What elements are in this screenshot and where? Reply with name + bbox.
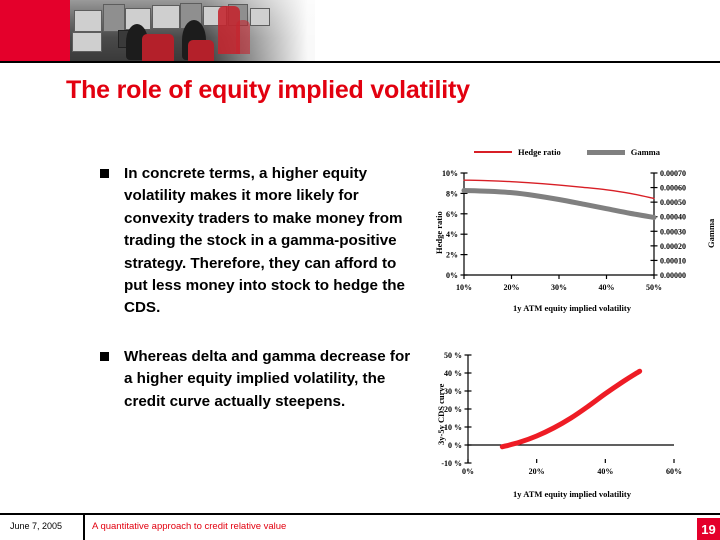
svg-text:50 %: 50 %	[444, 351, 462, 360]
svg-text:0.00050: 0.00050	[660, 198, 686, 207]
svg-text:10%: 10%	[442, 169, 458, 178]
brand-color-block	[0, 0, 70, 61]
svg-text:10%: 10%	[456, 283, 472, 292]
footer-page-rule	[660, 513, 720, 515]
chart1-y2-axis-label: Gamma	[706, 219, 716, 248]
svg-text:50%: 50%	[646, 283, 662, 292]
svg-text:0.00020: 0.00020	[660, 242, 686, 251]
svg-text:0%: 0%	[446, 271, 458, 280]
trading-floor-photo	[70, 0, 315, 61]
svg-text:10 %: 10 %	[444, 423, 462, 432]
svg-text:4%: 4%	[446, 230, 458, 239]
svg-text:40%: 40%	[597, 467, 613, 476]
svg-text:20%: 20%	[529, 467, 545, 476]
svg-text:40 %: 40 %	[444, 369, 462, 378]
svg-text:2%: 2%	[446, 251, 458, 260]
page-title: The role of equity implied volatility	[66, 76, 666, 105]
svg-text:20%: 20%	[504, 283, 520, 292]
svg-text:0 %: 0 %	[448, 441, 462, 450]
svg-text:40%: 40%	[599, 283, 615, 292]
svg-text:8%: 8%	[446, 189, 458, 198]
header-banner	[0, 0, 720, 62]
svg-text:60%: 60%	[666, 467, 682, 476]
svg-text:-10 %: -10 %	[441, 459, 462, 468]
svg-text:0.00000: 0.00000	[660, 271, 686, 280]
page-number: 19	[697, 518, 720, 540]
square-bullet-icon	[100, 169, 109, 178]
svg-text:0.00040: 0.00040	[660, 213, 686, 222]
list-item: Whereas delta and gamma decrease for a h…	[100, 346, 420, 413]
svg-text:20 %: 20 %	[444, 405, 462, 414]
chart2-x-axis-label: 1y ATM equity implied volatility	[424, 489, 720, 499]
footer-title: A quantitative approach to credit relati…	[92, 521, 286, 532]
bullet-text: Whereas delta and gamma decrease for a h…	[124, 346, 420, 413]
cds-curve-chart: -10 %0 %10 %20 %30 %40 %50 %0%20%40%60% …	[424, 345, 720, 505]
svg-text:0.00070: 0.00070	[660, 169, 686, 178]
svg-text:30 %: 30 %	[444, 387, 462, 396]
bullet-text: In concrete terms, a higher equity volat…	[124, 163, 420, 320]
footer-divider	[0, 513, 720, 515]
square-bullet-icon	[100, 352, 109, 361]
svg-text:0.00030: 0.00030	[660, 227, 686, 236]
svg-text:0.00010: 0.00010	[660, 256, 686, 265]
svg-text:6%: 6%	[446, 210, 458, 219]
chart1-y-axis-label: Hedge ratio	[434, 211, 444, 254]
footer-separator	[83, 514, 85, 540]
svg-text:0.00060: 0.00060	[660, 184, 686, 193]
list-item: In concrete terms, a higher equity volat…	[100, 163, 420, 320]
hedge-gamma-chart: Hedge ratio Gamma 0%2%4%6%8%10%0.000000.…	[424, 145, 720, 320]
footer-date: June 7, 2005	[10, 521, 62, 531]
bullet-list: In concrete terms, a higher equity volat…	[100, 163, 420, 439]
svg-text:0%: 0%	[462, 467, 474, 476]
header-divider	[0, 61, 720, 63]
chart1-x-axis-label: 1y ATM equity implied volatility	[424, 303, 720, 313]
chart2-y-axis-label: 3y-5y CDS curve	[436, 384, 446, 445]
svg-text:30%: 30%	[551, 283, 567, 292]
